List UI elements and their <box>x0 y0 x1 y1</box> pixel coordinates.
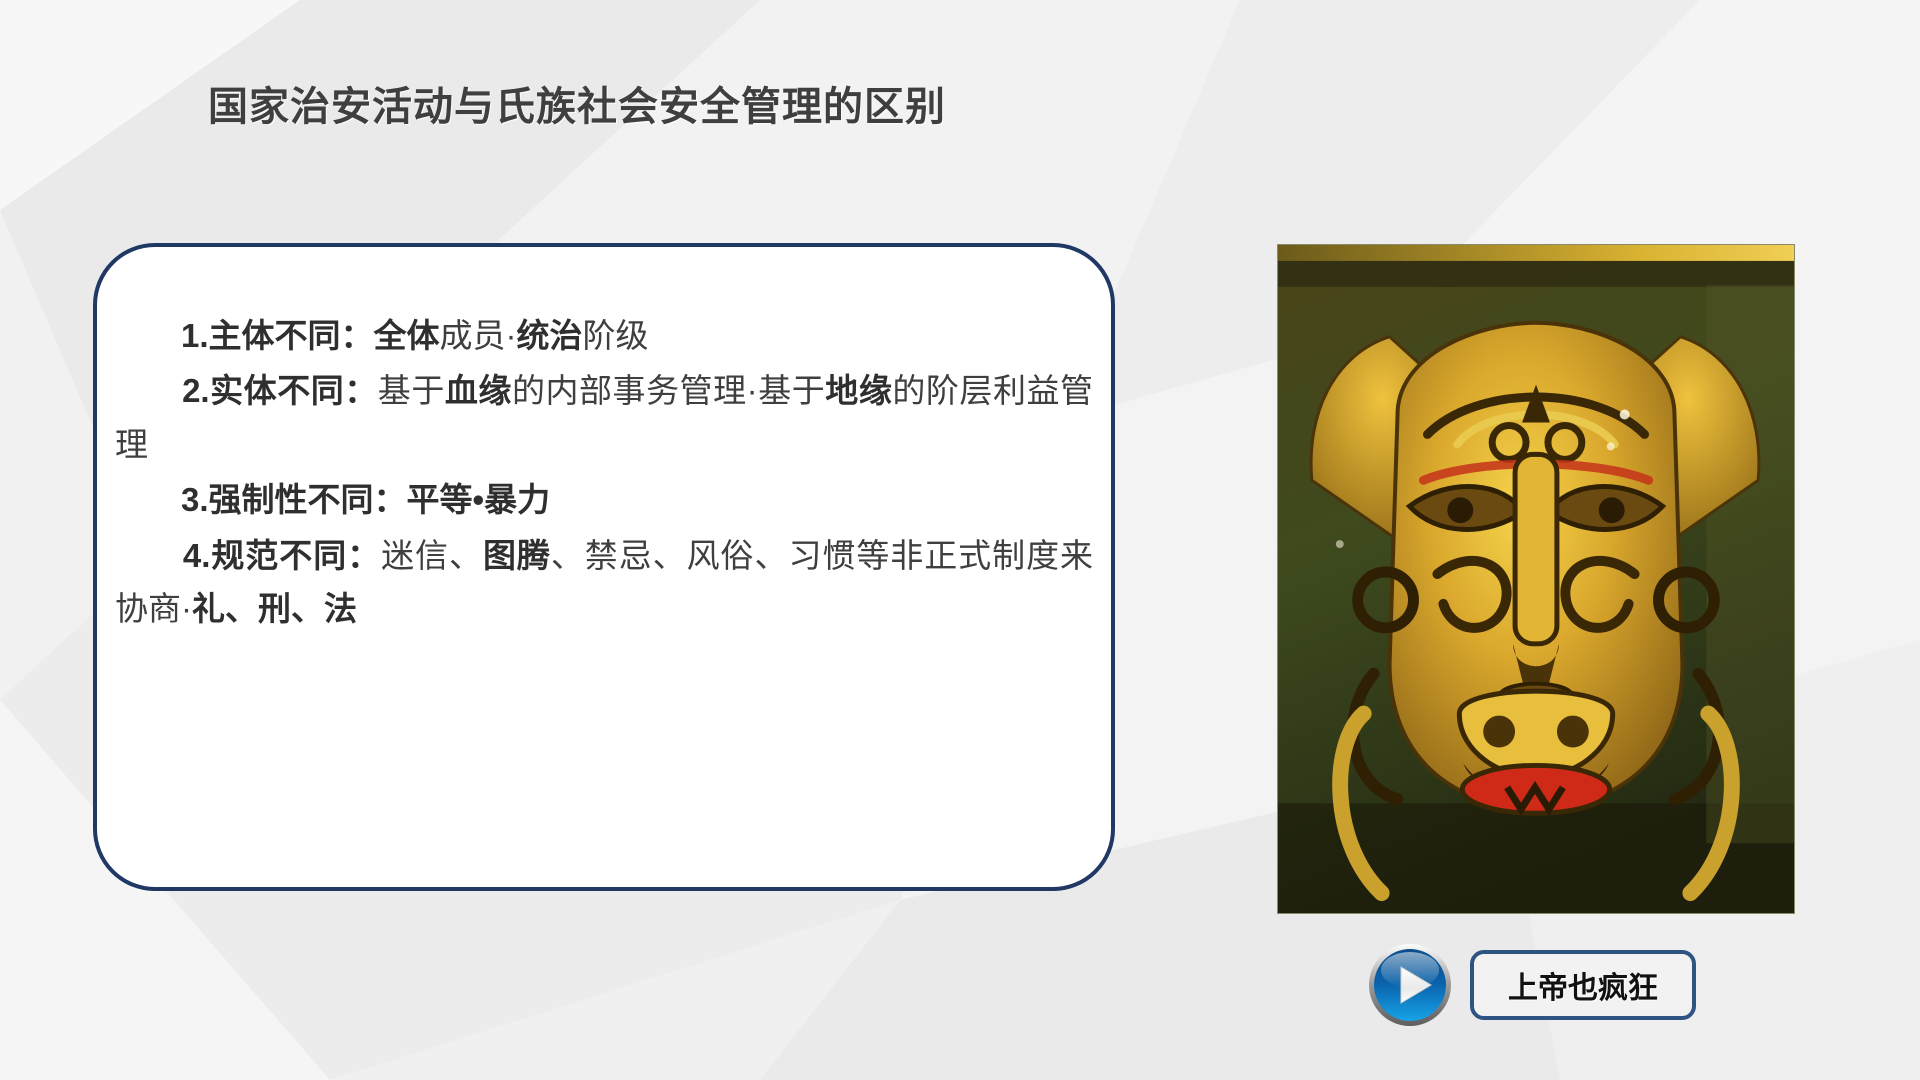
content-card: 1.主体不同：全体成员·统治阶级 2.实体不同：基于血缘的内部事务管理·基于地缘… <box>93 243 1115 891</box>
artifact-photo <box>1277 244 1795 914</box>
content-segment: 基于 <box>378 372 445 409</box>
content-line: 1.主体不同：全体成员·统治阶级 <box>115 309 1093 362</box>
content-line: 2.实体不同：基于血缘的内部事务管理·基于地缘的阶层利益管理 <box>115 364 1093 471</box>
content-segment: 的内部事务管理·基于 <box>512 372 825 409</box>
content-segment: 4.规范不同： <box>115 537 381 574</box>
golden-mask-illustration <box>1278 245 1794 913</box>
media-controls: 上帝也疯狂 <box>1368 943 1696 1027</box>
caption-button[interactable]: 上帝也疯狂 <box>1470 950 1696 1020</box>
content-text-block: 1.主体不同：全体成员·统治阶级 2.实体不同：基于血缘的内部事务管理·基于地缘… <box>115 309 1093 638</box>
page-title: 国家治安活动与氏族社会安全管理的区别 <box>208 74 946 132</box>
content-line: 4.规范不同：迷信、图腾、禁忌、风俗、习惯等非正式制度来协商·礼、刑、法 <box>115 529 1093 636</box>
content-segment: 地缘 <box>825 372 892 409</box>
content-segment: 1.主体不同： <box>115 317 374 354</box>
content-segment: 全体 <box>374 317 440 354</box>
play-icon[interactable] <box>1368 943 1452 1027</box>
content-segment: 血缘 <box>445 372 512 409</box>
content-line: 3.强制性不同：平等•暴力 <box>115 473 1093 526</box>
content-segment: 成员· <box>440 317 517 354</box>
content-segment: 图腾 <box>483 537 551 574</box>
content-segment: 统治 <box>517 317 583 354</box>
content-segment: 迷信、 <box>381 537 483 574</box>
content-segment: 阶级 <box>583 317 649 354</box>
content-segment: 礼、刑、法 <box>192 590 357 627</box>
content-segment: 3.强制性不同：平等•暴力 <box>115 481 550 518</box>
content-segment: 2.实体不同： <box>115 372 378 409</box>
